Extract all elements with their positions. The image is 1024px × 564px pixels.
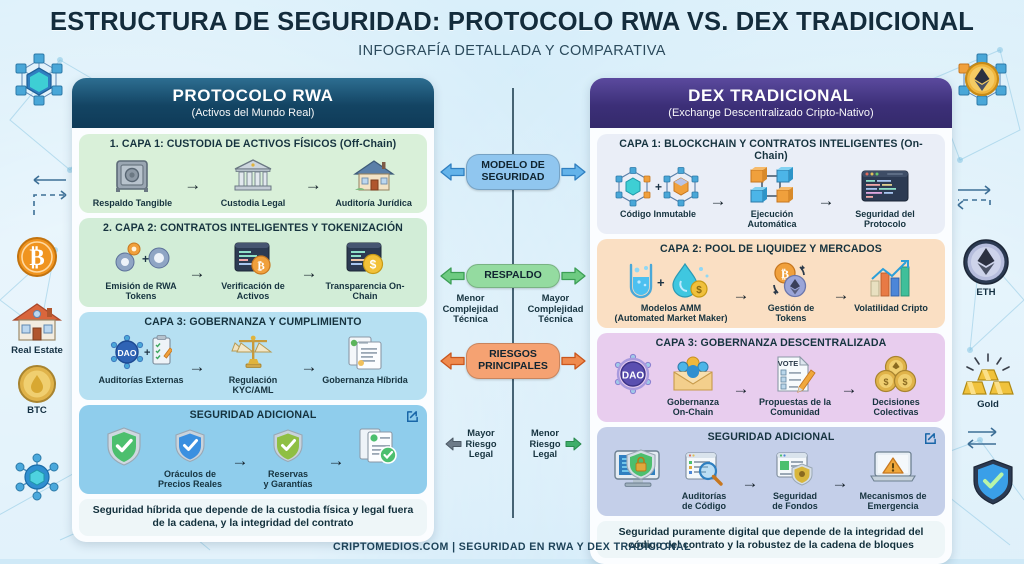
left-l2-label-1: Emisión de RWA Tokens: [98, 281, 184, 301]
right-l1-item-2: Ejecución Automática: [729, 164, 815, 229]
comparison-respaldo: RESPALDO: [436, 263, 590, 289]
token-swap-icon: ₿: [764, 258, 818, 302]
bank-building-icon: [232, 153, 274, 197]
right-layer-3: CAPA 3: GOBERNANZA DESCENTRALIZADA: [597, 333, 945, 422]
left-layer-3-title: CAPA 3: GOBERNANZA Y CUMPLIMIENTO: [85, 317, 421, 329]
bitcoin-coin-icon: ₿: [16, 236, 58, 278]
right-panel-subtitle: (Exchange Descentralizado Cripto-Nativo): [668, 107, 873, 119]
house-icon: [353, 153, 395, 197]
right-panel-title: DEX TRADICIONAL: [688, 87, 854, 105]
center-comparison-column: MODELO DESEGURIDAD RESPALDO MenorComplej…: [436, 78, 590, 540]
left-l4-label-1: Oráculos dePrecios Reales: [158, 469, 222, 489]
decoration-label-btc: BTC: [27, 405, 47, 416]
decoration-label-eth: ETH: [976, 287, 995, 298]
shield-check-icon: [970, 458, 1016, 506]
left-l4-item-3: [347, 424, 409, 468]
blockchain-nodes-icon: +: [615, 164, 701, 208]
respaldo-sub-left: MenorComplejidadTécnica: [436, 293, 505, 325]
svg-text:+: +: [655, 180, 662, 194]
right-l2-item-3: Volatilidad Cripto: [852, 258, 930, 313]
arrow-right-green-icon: [560, 263, 586, 289]
infographic-canvas: ESTRUCTURA DE SEGURIDAD: PROTOCOLO RWA V…: [0, 0, 1024, 559]
left-l1-label-3: Auditoría Jurídica: [335, 198, 412, 208]
page-header: ESTRUCTURA DE SEGURIDAD: PROTOCOLO RWA V…: [0, 8, 1024, 59]
right-l4-item-1: Auditoríasde Código: [669, 446, 739, 511]
right-l3-label-2: Propuestas de laComunidad: [759, 397, 831, 417]
left-l2-item-2: ₿ Verificación de Activos: [210, 236, 296, 301]
left-l1-label-1: Respaldo Tangible: [93, 198, 172, 208]
right-panel-header: DEX TRADICIONAL (Exchange Descentralizad…: [590, 78, 952, 128]
shield-check-olive-icon: [271, 424, 305, 468]
comparison-modelo-seguridad: MODELO DESEGURIDAD: [436, 154, 590, 190]
panel-protocolo-rwa: PROTOCOLO RWA (Activos del Mundo Real) 1…: [72, 78, 434, 542]
respaldo-sub-right: MayorComplejidadTécnica: [521, 293, 590, 325]
arrow-right-icon: →: [229, 452, 251, 469]
svg-text:$: $: [370, 258, 377, 272]
left-l3-item-1: DAO + Auditorías Externas: [98, 330, 184, 385]
left-l3-item-3: Gobernanza Híbrida: [322, 330, 408, 385]
gears-icon: +: [112, 236, 170, 280]
right-l4-item-3: Mecanismos deEmergencia: [851, 446, 935, 511]
arrow-left-gray-icon: [445, 434, 463, 454]
right-l4-item-2: Seguridadde Fondos: [761, 446, 829, 511]
right-layer-2-title: CAPA 2: POOL DE LIQUIDEZ Y MERCADOS: [603, 244, 939, 256]
right-l2-item-2: ₿ Gestión de Tokens: [752, 258, 830, 323]
window-search-icon: [683, 446, 725, 490]
documents-icon: [344, 330, 386, 374]
arrow-right-icon: →: [730, 380, 752, 397]
svg-text:DAO: DAO: [118, 348, 137, 358]
left-layer-2: 2. CAPA 2: CONTRATOS INTELIGENTES Y TOKE…: [79, 218, 427, 307]
arrow-right-icon: →: [730, 286, 752, 303]
left-layer-4-title: SEGURIDAD ADICIONAL: [85, 410, 421, 422]
left-layer-1: 1. CAPA 1: CUSTODIA DE ACTIVOS FÍSICOS (…: [79, 134, 427, 213]
right-l3-item-3: $ $ DecisionesColectivas: [860, 352, 932, 417]
dao-envelope-icon: [670, 352, 716, 396]
arrow-right-green-icon: [564, 434, 582, 454]
beaker-droplet-icon: + $: [623, 258, 719, 302]
scales-icon: [231, 330, 275, 374]
left-l3-label-2: Regulación KYC/AML: [210, 375, 296, 395]
svg-text:+: +: [657, 275, 665, 290]
comparison-label-3: RIESGOSPRINCIPALES: [466, 343, 560, 379]
left-l1-label-2: Custodia Legal: [221, 198, 286, 208]
safe-icon: [112, 153, 152, 197]
panel-dex-tradicional: DEX TRADICIONAL (Exchange Descentralizad…: [590, 78, 952, 564]
external-link-icon[interactable]: [922, 431, 937, 451]
svg-text:₿: ₿: [29, 245, 44, 270]
right-layer-4: SEGURIDAD ADICIONAL: [597, 427, 945, 516]
left-l2-label-3: Transparencia On-Chain: [322, 281, 408, 301]
right-l3-item-1: GobernanzaOn-Chain: [656, 352, 730, 417]
comparison-label-2: RESPALDO: [466, 264, 560, 288]
monitor-lock-icon: [611, 446, 665, 490]
right-layer-1-title: CAPA 1: BLOCKCHAIN Y CONTRATOS INTELIGEN…: [603, 139, 939, 162]
riesgo-subtext-pair: MayorRiesgoLegal MenorRiesgoLegal: [436, 428, 590, 460]
decoration-shield: [970, 458, 1016, 506]
footer-credit: CRIPTOMEDIOS.COM | SEGURIDAD EN RWA Y DE…: [0, 541, 1024, 553]
right-l1-label-1: Código Inmutable: [620, 209, 696, 219]
arrow-left-blue-icon: [440, 159, 466, 185]
gold-coin-icon: [17, 364, 57, 404]
left-l4-item-1: Oráculos dePrecios Reales: [151, 424, 229, 489]
decoration-left-network: [8, 50, 70, 112]
laptop-warning-icon: [869, 446, 917, 490]
left-l2-label-2: Verificación de Activos: [210, 281, 296, 301]
svg-text:₿: ₿: [257, 261, 265, 273]
coins-stack-icon: $ $: [872, 352, 920, 396]
left-l3-item-2: Regulación KYC/AML: [210, 330, 296, 395]
right-l4-item-0: [607, 446, 669, 490]
dao-node-icon: DAO +: [110, 330, 172, 374]
dao-node-icon: DAO: [611, 352, 655, 396]
decoration-real-estate: Real Estate: [10, 300, 64, 356]
decoration-label-gold: Gold: [977, 399, 999, 410]
left-l4-item-0: [97, 424, 151, 468]
node-cube-icon: [12, 452, 62, 502]
riesgo-sub-left: MayorRiesgoLegal: [436, 428, 505, 460]
ethereum-coin-icon: [962, 238, 1010, 286]
right-layer-4-title: SEGURIDAD ADICIONAL: [603, 432, 939, 444]
arrow-right-icon: →: [830, 286, 852, 303]
left-layer-2-title: 2. CAPA 2: CONTRATOS INTELIGENTES Y TOKE…: [85, 223, 421, 235]
svg-text:VOTE: VOTE: [778, 359, 798, 368]
arrow-right-icon: →: [298, 358, 320, 375]
right-l3-item-2: VOTE Propuestas de laComunidad: [752, 352, 838, 417]
svg-text:$: $: [902, 377, 907, 387]
shield-check-green-icon: [104, 424, 144, 468]
left-panel-subtitle: (Activos del Mundo Real): [192, 107, 315, 119]
right-l3-label-3: DecisionesColectivas: [872, 397, 920, 417]
right-l3-item-0: DAO: [610, 352, 656, 396]
comparison-label-1: MODELO DESEGURIDAD: [466, 154, 560, 190]
right-l2-label-2: Gestión de Tokens: [752, 303, 830, 323]
right-l3-label-1: GobernanzaOn-Chain: [667, 397, 719, 417]
right-l4-label-2: Seguridadde Fondos: [772, 491, 818, 511]
house-icon: [10, 300, 64, 344]
right-l2-label-1: Modelos AMM(Automated Market Maker): [614, 303, 727, 323]
left-panel-note: Seguridad híbrida que depende de la cust…: [79, 499, 427, 536]
arrow-right-icon: →: [182, 176, 204, 193]
left-layer-1-title: 1. CAPA 1: CUSTODIA DE ACTIVOS FÍSICOS (…: [85, 139, 421, 151]
right-l4-label-1: Auditoríasde Código: [682, 491, 727, 511]
decoration-node-cube: [12, 452, 62, 502]
linked-cubes-icon: [747, 164, 797, 208]
blockchain-network-icon: [8, 50, 70, 112]
left-l2-item-1: + Emisión de RWA Tokens: [98, 236, 184, 301]
document-check-icon: [355, 424, 401, 468]
left-layer-3: CAPA 3: GOBERNANZA Y CUMPLIMIENTO DAO: [79, 312, 427, 401]
arrow-left-green-icon: [440, 263, 466, 289]
left-l4-item-2: Reservasy Garantías: [251, 424, 325, 489]
vote-document-icon: VOTE: [772, 352, 818, 396]
left-l3-label-3: Gobernanza Híbrida: [322, 375, 408, 385]
ethereum-network-icon: [950, 50, 1014, 112]
code-window-dollar-icon: $: [343, 236, 387, 280]
decoration-eth: ETH: [962, 238, 1010, 298]
left-panel-title: PROTOCOLO RWA: [172, 87, 333, 105]
arrow-left-orange-icon: [440, 348, 466, 374]
right-layer-1: CAPA 1: BLOCKCHAIN Y CONTRATOS INTELIGEN…: [597, 134, 945, 234]
arrow-right-blue-icon: [560, 159, 586, 185]
left-l1-item-3: Auditoría Jurídica: [326, 153, 421, 208]
arrow-right-icon: →: [815, 192, 837, 209]
right-l1-label-2: Ejecución Automática: [729, 209, 815, 229]
arrow-right-icon: →: [298, 264, 320, 281]
right-l4-label-3: Mecanismos deEmergencia: [859, 491, 926, 511]
svg-text:$: $: [696, 285, 702, 296]
svg-text:DAO: DAO: [622, 370, 644, 381]
decoration-btc: BTC: [17, 364, 57, 416]
svg-text:+: +: [144, 347, 150, 359]
right-l1-label-3: Seguridad del Protocolo: [837, 209, 933, 229]
arrow-right-icon: →: [707, 192, 729, 209]
left-l3-label-1: Auditorías Externas: [98, 375, 183, 385]
arrow-right-icon: →: [186, 358, 208, 375]
arrow-right-orange-icon: [560, 348, 586, 374]
right-l2-item-1: + $ Modelos AMM(Automated Market Maker): [612, 258, 730, 323]
left-l4-label-2: Reservasy Garantías: [263, 469, 312, 489]
left-l1-item-2: Custodia Legal: [206, 153, 301, 208]
decoration-right-network: [950, 50, 1014, 112]
code-window-icon: [859, 164, 911, 208]
riesgo-sub-right: MenorRiesgoLegal: [521, 428, 590, 460]
respaldo-subtext-pair: MenorComplejidadTécnica MayorComplejidad…: [436, 293, 590, 325]
gold-bars-icon: [962, 352, 1014, 398]
arrow-right-icon: →: [186, 264, 208, 281]
arrow-right-icon: →: [829, 474, 851, 491]
arrow-right-icon: →: [302, 176, 324, 193]
right-l2-label-3: Volatilidad Cripto: [854, 303, 928, 313]
right-l1-item-3: Seguridad del Protocolo: [837, 164, 933, 229]
left-l1-item-1: Respaldo Tangible: [85, 153, 180, 208]
decoration-gold: Gold: [962, 352, 1014, 410]
left-l2-item-3: $ Transparencia On-Chain: [322, 236, 408, 301]
shield-check-blue-icon: [173, 424, 207, 468]
bar-chart-up-icon: [866, 258, 916, 302]
svg-text:$: $: [883, 377, 888, 387]
right-layer-2: CAPA 2: POOL DE LIQUIDEZ Y MERCADOS +: [597, 239, 945, 328]
arrow-right-icon: →: [838, 380, 860, 397]
decoration-label-real-estate: Real Estate: [11, 345, 63, 356]
left-layer-4: SEGURIDAD ADICIONAL: [79, 405, 427, 494]
left-panel-header: PROTOCOLO RWA (Activos del Mundo Real): [72, 78, 434, 128]
right-layer-3-title: CAPA 3: GOBERNANZA DESCENTRALIZADA: [603, 338, 939, 350]
window-shield-icon: [774, 446, 816, 490]
page-subtitle: INFOGRAFÍA DETALLADA Y COMPARATIVA: [0, 43, 1024, 59]
comparison-riesgos: RIESGOSPRINCIPALES: [436, 343, 590, 379]
arrow-right-icon: →: [739, 474, 761, 491]
right-l1-item-1: +: [609, 164, 707, 219]
code-window-bitcoin-icon: ₿: [231, 236, 275, 280]
svg-text:+: +: [142, 252, 149, 266]
decoration-bitcoin: ₿: [16, 236, 58, 278]
arrow-right-icon: →: [325, 452, 347, 469]
external-link-icon[interactable]: [404, 409, 419, 429]
page-title: ESTRUCTURA DE SEGURIDAD: PROTOCOLO RWA V…: [0, 8, 1024, 37]
